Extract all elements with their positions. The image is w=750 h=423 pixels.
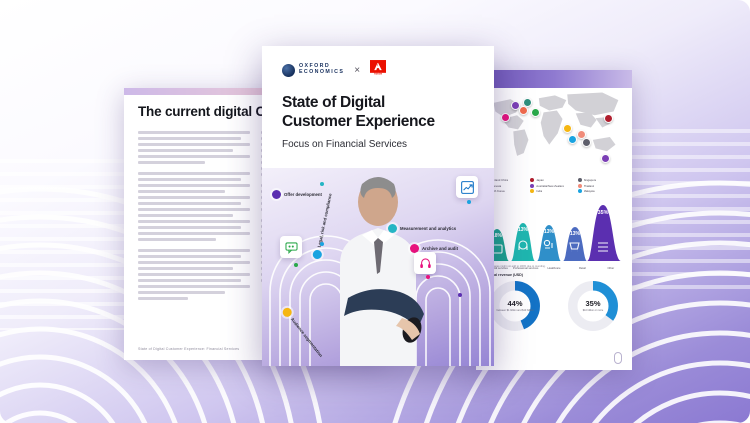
chat-message-icon — [285, 241, 298, 254]
industry-bell-chart: 18% 13% 13% 13% 35% Financial services P… — [483, 199, 625, 261]
adobe-logo: Adobe — [370, 60, 386, 80]
map-pin-malaysia[interactable] — [568, 135, 577, 144]
donut-percent: 44% — [507, 299, 522, 308]
legend-swatch-icon — [578, 184, 582, 188]
oxford-economics-logo: OXFORD ECONOMICS — [282, 64, 344, 77]
legend-swatch-icon — [530, 184, 534, 188]
donut-chart: 44% between $1 billion and $10 billion — [488, 279, 542, 333]
tile-headset-support[interactable] — [414, 252, 436, 274]
report-page-right[interactable]: Respondent demographics — [476, 70, 632, 370]
node-dot-icon — [312, 249, 323, 260]
legend-item: Singapore — [578, 178, 625, 182]
world-map-icon — [483, 84, 625, 164]
connector-dot — [426, 275, 430, 279]
bell-label: Other — [597, 267, 625, 270]
node-dot-icon — [272, 190, 281, 199]
legend-item: Japan — [530, 178, 577, 182]
paragraph — [138, 172, 250, 241]
legend-swatch-icon — [578, 189, 582, 193]
map-legend: Mainland China Japan Singapore Indonesia… — [483, 178, 625, 195]
donut-chart: 35% $10 billion or more — [566, 279, 620, 333]
paragraph — [138, 249, 250, 300]
node-measurement-analytics[interactable]: Measurement and analytics — [388, 224, 456, 233]
chart-growth-icon — [461, 181, 474, 194]
map-pin-australia[interactable] — [601, 154, 610, 163]
bell-label: Healthcare — [540, 267, 568, 270]
legend-label: Japan — [536, 178, 544, 182]
map-pin-japan[interactable] — [604, 114, 613, 123]
node-dot-icon — [388, 224, 397, 233]
tile-chat-message[interactable] — [280, 236, 302, 258]
donut-label: between $1 billion and $10 billion — [497, 309, 534, 312]
connector-dot — [458, 293, 462, 297]
legend-item: Thailand — [578, 184, 625, 188]
node-label: Measurement and analytics — [400, 226, 456, 231]
oxford-logo-line2: ECONOMICS — [299, 70, 344, 76]
map-pin-india[interactable] — [563, 124, 572, 133]
legend-label: Singapore — [584, 178, 597, 182]
legend-item: Australia/New Zealand — [530, 184, 577, 188]
bell-label: Retail — [568, 267, 596, 270]
legend-label: India — [536, 189, 542, 193]
page-number-badge — [614, 352, 622, 364]
legend-item: India — [530, 189, 577, 193]
revenue-heading: Annual revenue (USD) — [485, 273, 632, 277]
adobe-a-icon: Adobe — [370, 60, 386, 75]
legend-label: Australia/New Zealand — [536, 184, 564, 188]
logo-row: OXFORD ECONOMICS × Adobe — [282, 60, 474, 80]
connector-dot — [320, 182, 324, 186]
map-pin-north-europe[interactable] — [519, 106, 528, 115]
person-photo — [340, 177, 425, 366]
cover-subtitle: Focus on Financial Services — [282, 139, 474, 150]
legend-swatch-icon — [530, 189, 534, 193]
svg-text:13%: 13% — [570, 231, 581, 237]
donut-center: 35% $10 billion or more — [566, 279, 620, 333]
logo-separator-icon: × — [354, 65, 360, 76]
legend-swatch-icon — [530, 178, 534, 182]
cover-title-line1: State of Digital — [282, 94, 474, 113]
connector-dot — [320, 242, 324, 246]
svg-text:35%: 35% — [598, 210, 609, 216]
node-label: Offer development — [284, 192, 322, 197]
legend-label: Thailand — [584, 184, 595, 188]
right-stripe-pattern — [630, 120, 750, 290]
legend-swatch-icon — [578, 178, 582, 182]
legend-label: Malaysia — [584, 189, 595, 193]
svg-text:13%: 13% — [518, 227, 529, 233]
legend-item: Malaysia — [578, 189, 625, 193]
connector-dot — [467, 200, 471, 204]
bell-label: Professional services — [511, 267, 539, 270]
bell-chart-labels: Financial services Professional services… — [483, 267, 625, 270]
cover-artwork: Offer development Measurement and analyt… — [262, 168, 494, 366]
donut-center: 44% between $1 billion and $10 billion — [488, 279, 542, 333]
svg-text:Adobe: Adobe — [374, 72, 383, 75]
node-label: Archive and audit — [422, 246, 458, 251]
donut-label: $10 billion or more — [583, 309, 604, 312]
headset-support-icon — [419, 257, 432, 270]
revenue-donut-charts: 44% between $1 billion and $10 billion 3… — [476, 279, 632, 333]
connector-dot — [294, 263, 298, 267]
svg-text:13%: 13% — [544, 229, 555, 235]
left-page-footer: State of Digital Customer Experience: Fi… — [138, 347, 239, 351]
bell-bars-icon: 18% 13% 13% 13% 35% — [483, 199, 625, 261]
node-offer-development[interactable]: Offer development — [272, 190, 322, 199]
globe-icon — [282, 64, 295, 77]
donut-percent: 35% — [585, 299, 600, 308]
tile-chart-growth[interactable] — [456, 176, 478, 198]
report-cover-page[interactable]: OXFORD ECONOMICS × Adobe State of Digita… — [262, 46, 494, 366]
paragraph — [138, 131, 250, 164]
cover-title-line2: Customer Experience — [282, 113, 474, 132]
world-map-chart — [483, 84, 625, 176]
text-column-1 — [138, 131, 250, 308]
promo-banner: The current digital CX for FSI — [0, 0, 750, 423]
